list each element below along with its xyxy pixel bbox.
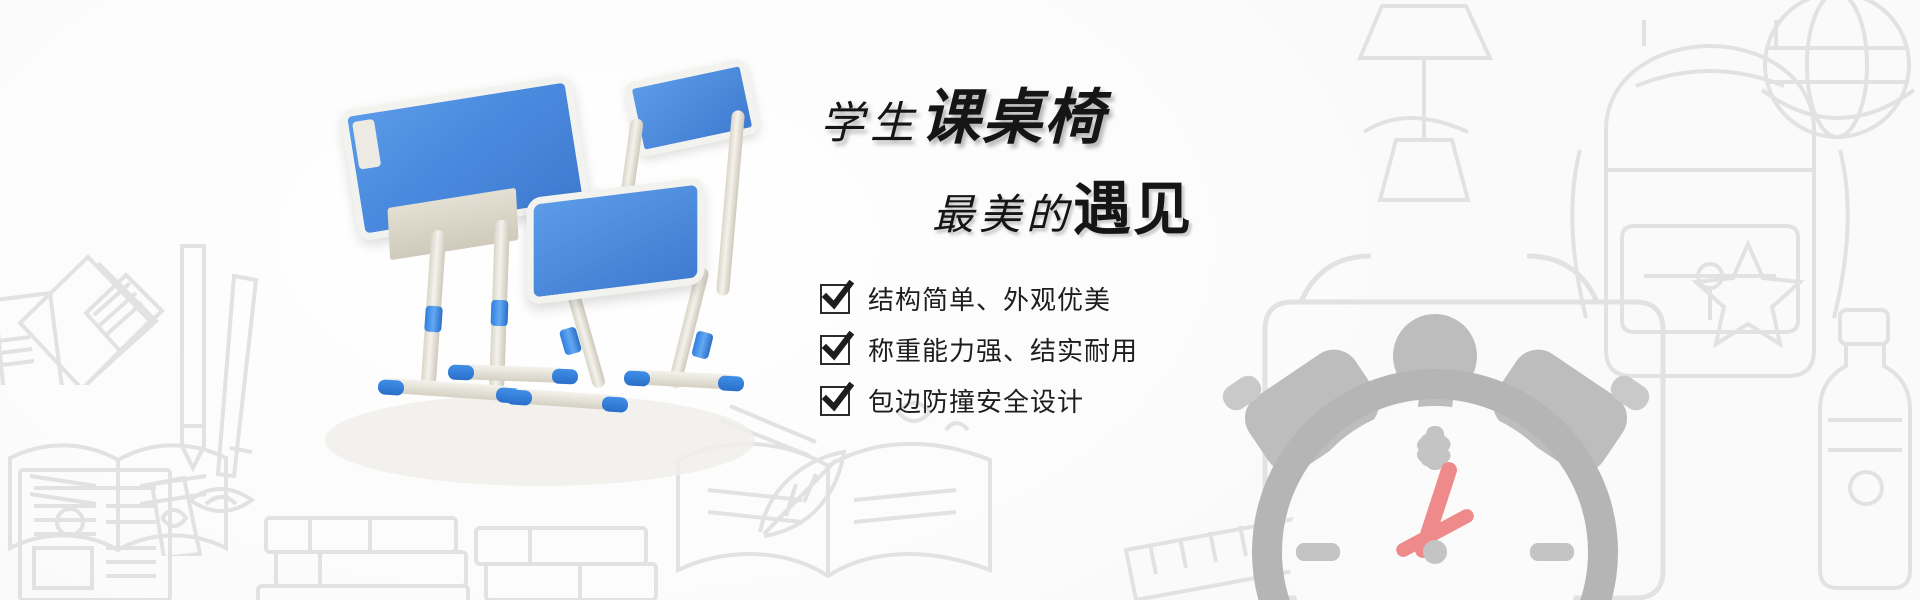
desk-leg-cuff-right [491, 300, 509, 327]
headline-line-1: 学生课桌椅 [820, 88, 1300, 148]
desk-leg-cuff-left [424, 305, 443, 332]
checkbox-checked-icon [820, 335, 850, 365]
feature-text: 包边防撞安全设计 [868, 382, 1084, 419]
feature-item: 包边防撞安全设计 [820, 382, 1300, 419]
chair-foot-cap-back-right [718, 375, 745, 391]
feature-item: 称重能力强、结实耐用 [820, 331, 1300, 368]
chair-seat [527, 177, 705, 306]
headline-line-2: 最美的遇见 [820, 162, 1300, 246]
banner-copy: 学生课桌椅 最美的遇见 结构简单、外观优美 称重能力强 [820, 88, 1300, 433]
lamp-doodle [1340, 0, 1540, 220]
feature-item: 结构简单、外观优美 [820, 280, 1300, 317]
bottle-doodle [1800, 300, 1920, 600]
checkbox-checked-icon [820, 284, 850, 314]
checkbox-checked-icon [820, 386, 850, 416]
chair-foot-cap-front-right [602, 396, 629, 413]
open-book-doodle [0, 398, 240, 588]
desk-foot-cap-back-left [448, 365, 475, 381]
student-desk-and-chair-photo [330, 70, 800, 470]
desk-foot-cap-left [378, 379, 405, 396]
chair-leg-cuff-back [691, 330, 714, 359]
headline-prefix-1: 学生 [820, 99, 920, 148]
notebook-doodle [0, 125, 260, 385]
promo-banner: 学生课桌椅 最美的遇见 结构简单、外观优美 称重能力强 [0, 0, 1920, 600]
star-doodle [1688, 232, 1808, 352]
headline-keyword-1: 课桌椅 [920, 85, 1106, 151]
headline-keyword-2: 遇见 [1073, 177, 1193, 242]
desk-foot-cap-back-right [552, 369, 579, 385]
feature-list: 结构简单、外观优美 称重能力强、结实耐用 包边防撞安全设计 [820, 280, 1300, 419]
chair-foot-cap-front-left [506, 389, 533, 406]
chair-foot-cap-back-left [624, 370, 651, 386]
feature-text: 结构简单、外观优美 [868, 280, 1111, 317]
headline-prefix-2: 最美的 [932, 193, 1073, 239]
paper-stack-doodle [10, 430, 330, 600]
globe-doodle [1742, 0, 1920, 160]
feature-text: 称重能力强、结实耐用 [868, 331, 1138, 368]
pencil-doodle [138, 236, 288, 556]
